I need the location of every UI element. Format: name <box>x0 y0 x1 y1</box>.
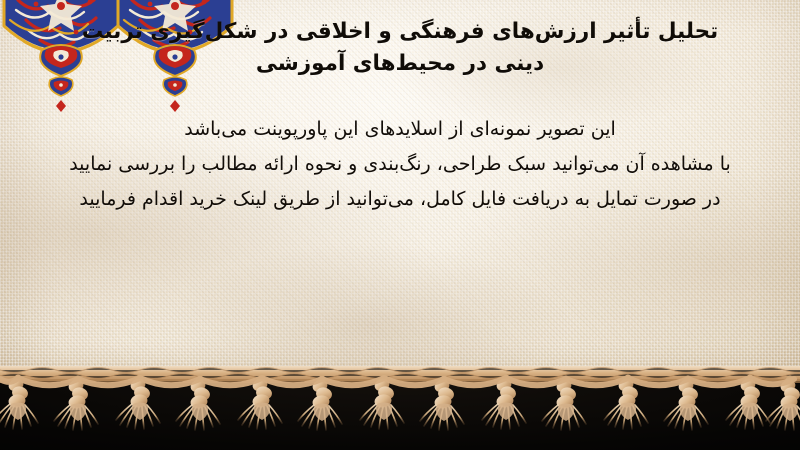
slide-body-line-1: این تصویر نمونه‌ای از اسلایدهای این پاور… <box>18 112 782 147</box>
slide-title-line-2: دینی در محیط‌های آموزشی <box>18 48 782 80</box>
slide-body-line-3: در صورت تمایل به دریافت فایل کامل، می‌تو… <box>18 182 782 217</box>
slide-body-text: این تصویر نمونه‌ای از اسلایدهای این پاور… <box>18 112 782 217</box>
presentation-slide: تحلیل تأثیر ارزش‌های فرهنگی و اخلاقی در … <box>0 0 800 450</box>
black-bottom-band <box>0 378 800 450</box>
slide-title-line-1: تحلیل تأثیر ارزش‌های فرهنگی و اخلاقی در … <box>82 19 718 44</box>
slide-body-line-2: با مشاهده آن می‌توانید سبک طراحی، رنگ‌بن… <box>18 147 782 182</box>
slide-title: تحلیل تأثیر ارزش‌های فرهنگی و اخلاقی در … <box>18 16 782 80</box>
slide-text-layer: تحلیل تأثیر ارزش‌های فرهنگی و اخلاقی در … <box>0 0 800 378</box>
